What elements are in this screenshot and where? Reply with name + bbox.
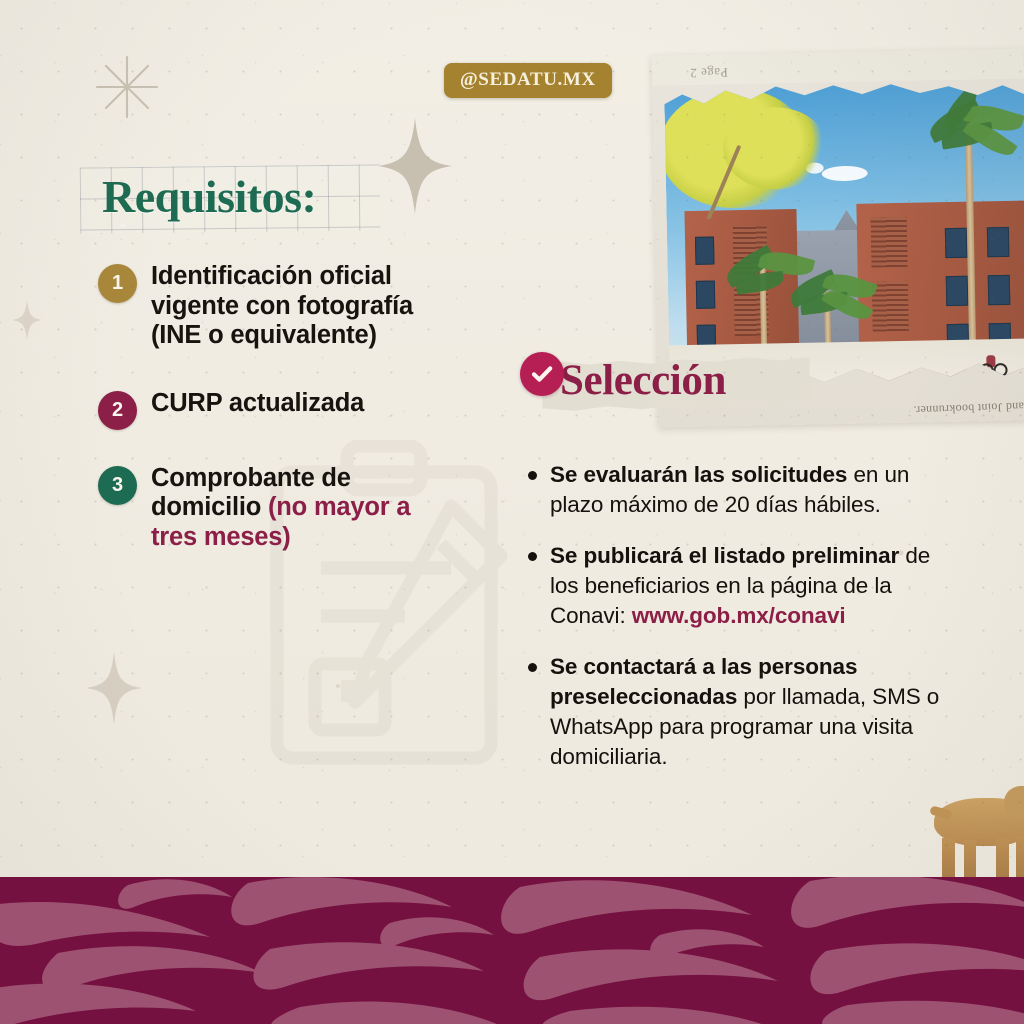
requisito-item: 2 CURP actualizada [98, 389, 450, 430]
seleccion-list: Se evaluarán las solicitudes en un plazo… [528, 460, 958, 793]
requisito-number-badge: 1 [98, 264, 137, 303]
poster-canvas: Page 2 and Joint bookrunner. [0, 0, 1024, 1024]
requisitos-list: 1 Identificación oficial vigente con fot… [98, 262, 450, 578]
seleccion-title: Selección [560, 356, 726, 405]
seleccion-heading: Selección [520, 352, 820, 414]
requisitos-title: Requisitos: [102, 170, 316, 223]
requisito-item: 1 Identificación oficial vigente con fot… [98, 262, 450, 351]
sparkle-icon [378, 118, 452, 214]
seleccion-text-bold: Se publicará el listado preliminar [550, 543, 899, 568]
seleccion-item: Se evaluarán las solicitudes en un plazo… [528, 460, 958, 519]
seleccion-text: Se evaluarán las solicitudes en un plazo… [550, 460, 958, 519]
sparkle-icon [86, 652, 142, 724]
seleccion-item: Se contactará a las personas preseleccio… [528, 652, 958, 771]
seleccion-text: Se contactará a las personas preseleccio… [550, 652, 958, 771]
photo-caption-top: Page 2 [690, 64, 728, 81]
photo-caption-bottom: and Joint bookrunner. [913, 399, 1024, 418]
requisito-number-badge: 3 [98, 466, 137, 505]
housing-photo [664, 79, 1024, 398]
sparkle-icon [12, 300, 42, 340]
bottom-banner [0, 877, 1024, 1024]
bullet-dot [528, 552, 537, 561]
seleccion-text-bold: Se evaluarán las solicitudes [550, 462, 847, 487]
dog-illustration [930, 780, 1024, 882]
star-burst-icon [92, 52, 162, 122]
requisito-text: CURP actualizada [151, 389, 364, 419]
requisitos-heading: Requisitos: [86, 168, 376, 230]
requisito-text: Comprobante de domicilio (no mayor a tre… [151, 464, 450, 553]
seleccion-item: Se publicará el listado preliminar de lo… [528, 541, 958, 630]
check-circle-icon [520, 352, 564, 396]
conavi-link[interactable]: www.gob.mx/conavi [632, 603, 846, 628]
bullet-dot [528, 663, 537, 672]
requisito-text: Identificación oficial vigente con fotog… [151, 262, 450, 351]
requisito-item: 3 Comprobante de domicilio (no mayor a t… [98, 464, 450, 553]
bullet-dot [528, 471, 537, 480]
requisito-number-badge: 2 [98, 391, 137, 430]
sedatu-handle-badge[interactable]: @SEDATU.MX [444, 63, 612, 98]
seleccion-text: Se publicará el listado preliminar de lo… [550, 541, 958, 630]
